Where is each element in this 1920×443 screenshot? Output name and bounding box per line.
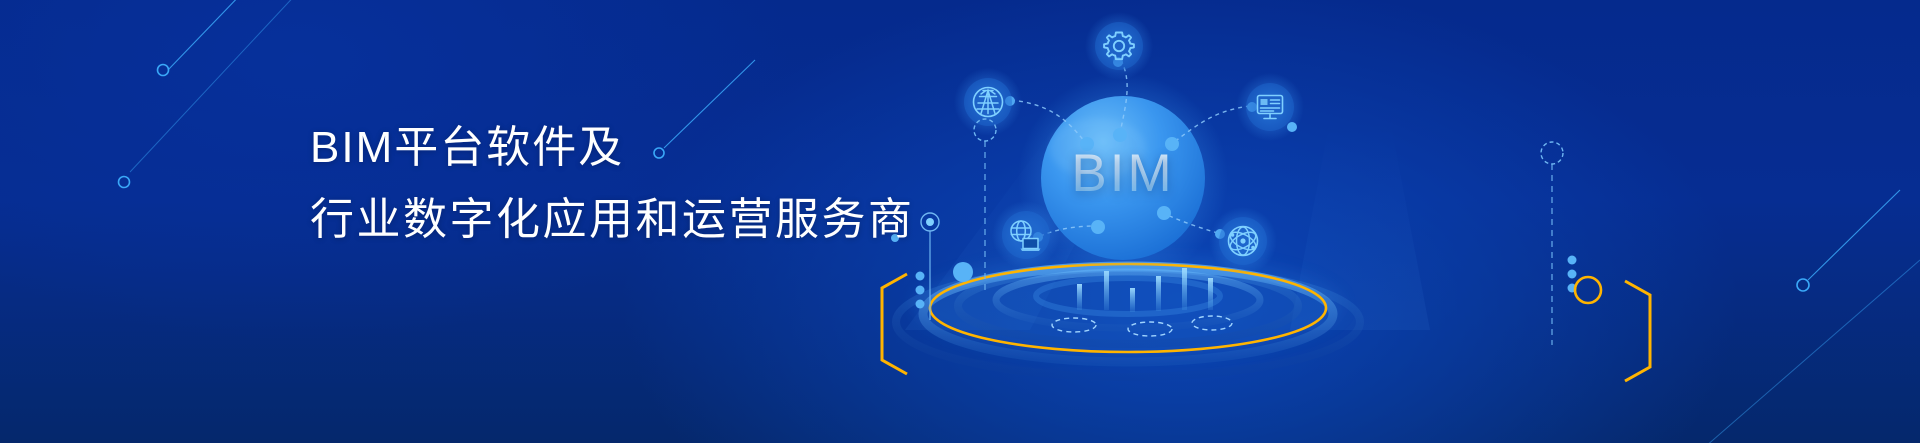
accent-ring-dot: [1575, 277, 1601, 303]
headline-line-2: 行业数字化应用和运营服务商: [310, 184, 915, 256]
node-globe-laptop[interactable]: [992, 201, 1060, 269]
bim-illustration: [0, 0, 1920, 443]
bim-core-label: BIM: [1043, 143, 1203, 204]
node-atom-network[interactable]: [1209, 207, 1277, 275]
node-gear[interactable]: [1085, 12, 1153, 80]
headline-line-1: BIM平台软件及: [310, 112, 915, 184]
node-power-tower[interactable]: [954, 68, 1022, 136]
headline-block: BIM平台软件及 行业数字化应用和运营服务商: [310, 112, 915, 256]
bim-hero-banner: BIM平台软件及 行业数字化应用和运营服务商: [0, 0, 1920, 443]
bracket-right: [1625, 281, 1650, 381]
